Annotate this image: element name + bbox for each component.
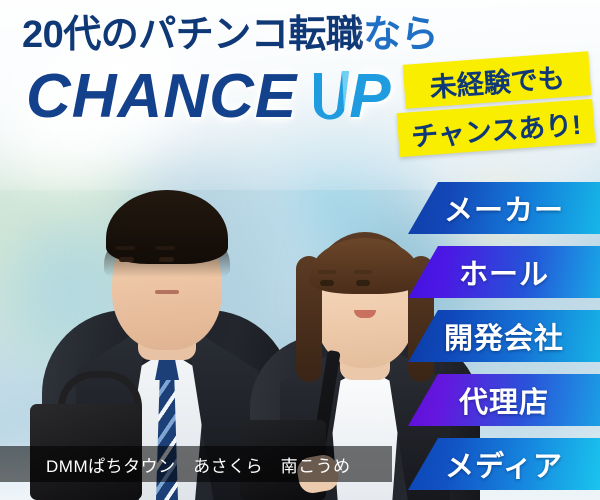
credit-caption: DMMぱちタウン あさくら 南こうめ (0, 446, 392, 482)
credit-caption-text: DMMぱちタウン あさくら 南こうめ (0, 452, 351, 477)
headline-tail: なら (363, 14, 438, 56)
category-label: 開発会社 (444, 315, 564, 357)
headline-text: 20代のパチンコ転職なら (22, 16, 438, 54)
logo-u-arrow-icon (311, 69, 351, 129)
category-button-hall[interactable]: ホール (408, 246, 600, 298)
logo-word-p: P (349, 62, 391, 131)
advertisement-banner[interactable]: 20代のパチンコ転職なら CHANCEP 未経験でも チャンスあり! メーカー … (0, 0, 600, 500)
category-label: メーカー (444, 187, 564, 229)
category-label: ホール (459, 251, 549, 293)
logo-word-chance: CHANCE (26, 62, 297, 131)
badge-line-1-label: 未経験でも (428, 56, 565, 105)
headline-main: 20代のパチンコ転職 (22, 14, 363, 56)
logo-chance-up: CHANCEP (26, 66, 392, 129)
category-button-maker[interactable]: メーカー (408, 182, 600, 234)
category-button-agency[interactable]: 代理店 (408, 374, 600, 426)
category-label: メディア (445, 443, 563, 485)
category-label: 代理店 (459, 379, 549, 421)
category-button-developer[interactable]: 開発会社 (408, 310, 600, 362)
category-button-media[interactable]: メディア (408, 438, 600, 490)
